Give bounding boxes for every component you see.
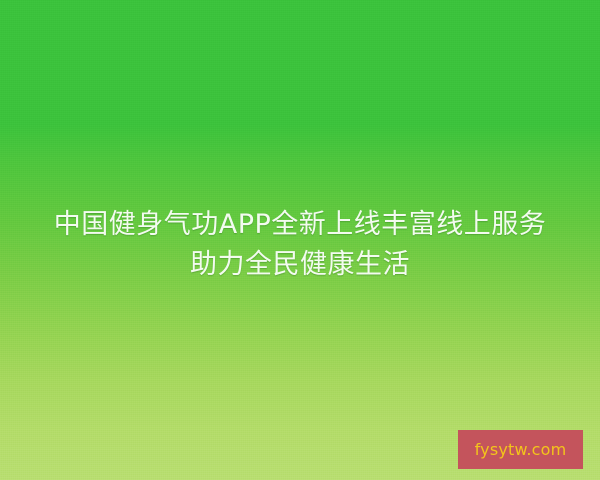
gradient-background <box>0 0 600 480</box>
article-banner: 中国健身气功APP全新上线丰富线上服务 助力全民健康生活 fysytw.com <box>0 0 600 480</box>
watermark-badge: fysytw.com <box>458 430 583 469</box>
watermark-label: fysytw.com <box>475 441 567 459</box>
